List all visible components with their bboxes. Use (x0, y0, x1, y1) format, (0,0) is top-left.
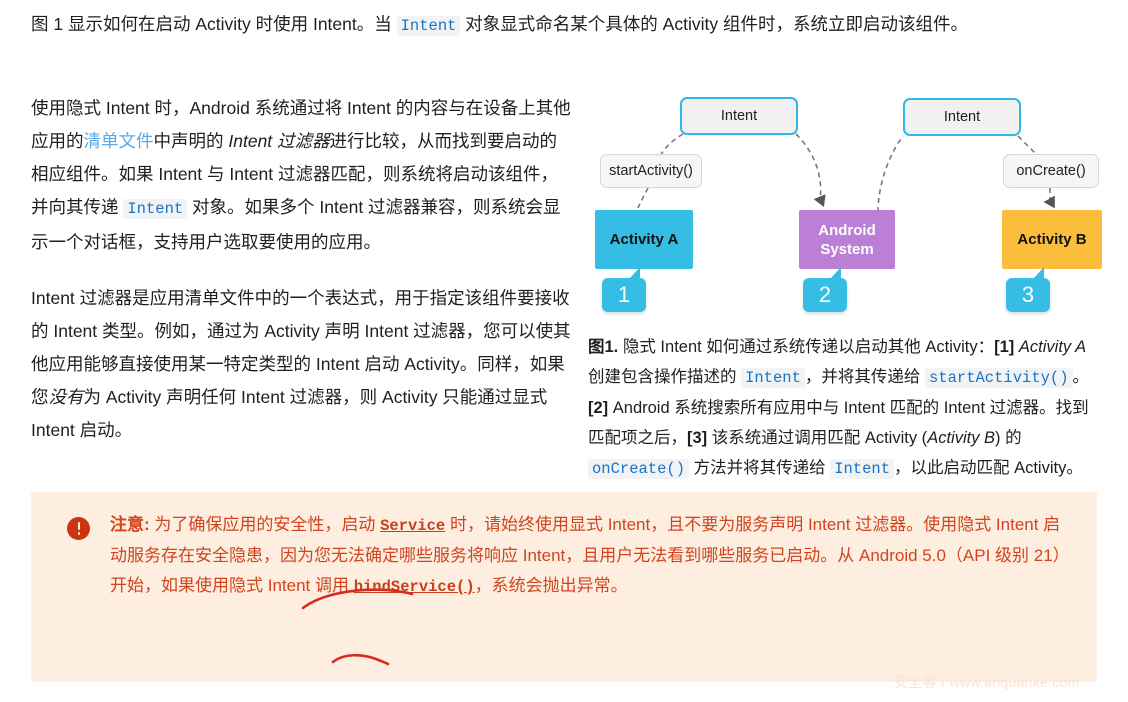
caption-s1: 隐式 Intent 如何通过系统传递以启动其他 Activity： (618, 338, 994, 356)
caption-code-intent-2: Intent (830, 459, 894, 479)
caption-step-3: [3] (687, 429, 707, 447)
p2-emphasis-none: 没有 (49, 387, 84, 407)
watermark: 安全客 / www.anquanke.com (894, 672, 1080, 692)
caption-step-1: [1] (994, 338, 1014, 356)
diagram-android-system-label-line1: Android (818, 221, 876, 240)
callout-tail-3 (1027, 267, 1044, 278)
figure-caption: 图1. 隐式 Intent 如何通过系统传递以启动其他 Activity：[1]… (588, 332, 1100, 484)
p1-emphasis-intent-filter: Intent 过滤器 (228, 131, 329, 151)
manifest-file-link[interactable]: 清单文件 (84, 131, 154, 151)
diagram-activity-a-label: Activity A (610, 230, 679, 249)
diagram-callout-1-label: 1 (618, 282, 630, 308)
document-page: 图 1 显示如何在启动 Activity 时使用 Intent。当 Intent… (0, 0, 1128, 702)
caption-code-on-create: onCreate() (588, 459, 689, 479)
note-inner: 注意: 为了确保应用的安全性，启动 Service 时，请始终使用显式 Inte… (67, 510, 1077, 602)
intro-text-part1: 图 1 显示如何在启动 Activity 时使用 Intent。当 (31, 14, 397, 34)
diagram-callout-1: 1 (602, 278, 646, 312)
caption-em-activity-a: Activity A (1019, 338, 1086, 356)
p2-s2: 为 Activity 声明任何 Intent 过滤器，则 Activity 只能… (31, 387, 547, 440)
diagram-node-activity-a: Activity A (595, 210, 693, 269)
left-column: 使用隐式 Intent 时，Android 系统通过将 Intent 的内容与在… (31, 92, 571, 470)
intro-text-part2: 对象显式命名某个具体的 Activity 组件时，系统立即启动该组件。 (460, 14, 968, 34)
diagram-node-android-system: Android System (799, 210, 895, 269)
diagram-callout-2-label: 2 (819, 282, 831, 308)
diagram-intent-right-label: Intent (944, 109, 980, 125)
note-code-bindservice: bindService() (354, 578, 475, 596)
diagram-activity-b-label: Activity B (1017, 230, 1086, 249)
diagram-callout-3-label: 3 (1022, 282, 1034, 308)
intent-flow-diagram: Intent Intent startActivity() onCreate()… (588, 84, 1108, 324)
note-label: 注意: (110, 515, 150, 534)
diagram-intent-left-label: Intent (721, 108, 757, 124)
diagram-on-create-box: onCreate() (1003, 154, 1099, 188)
note-t1: 为了确保应用的安全性，启动 (150, 515, 380, 534)
p1-s2: 中声明的 (154, 131, 229, 151)
diagram-intent-box-right: Intent (903, 98, 1021, 136)
diagram-node-activity-b: Activity B (1002, 210, 1102, 269)
note-code-service: Service (380, 517, 445, 535)
callout-tail-1 (623, 267, 640, 278)
caption-s4: 。 (1073, 368, 1090, 386)
paragraph-intent-filter: Intent 过滤器是应用清单文件中的一个表达式，用于指定该组件要接收的 Int… (31, 282, 571, 447)
diagram-start-activity-label: startActivity() (609, 163, 693, 179)
caption-fig-word: 图 (588, 338, 605, 356)
intro-paragraph: 图 1 显示如何在启动 Activity 时使用 Intent。当 Intent… (31, 8, 1097, 43)
caption-step-2: [2] (588, 399, 608, 417)
note-t3: ，系统会抛出异常。 (475, 576, 628, 595)
code-chip-intent-2: Intent (123, 199, 187, 219)
caption-s9: ，以此启动匹配 Activity。 (894, 459, 1083, 477)
diagram-on-create-label: onCreate() (1016, 163, 1085, 179)
caption-code-start-activity: startActivity() (925, 368, 1073, 388)
diagram-intent-box-left: Intent (680, 97, 798, 135)
caption-s7: ) 的 (995, 429, 1022, 447)
exclamation-circle-icon (67, 517, 90, 540)
caption-s2: 创建包含操作描述的 (588, 368, 741, 386)
caution-note-box: 注意: 为了确保应用的安全性，启动 Service 时，请始终使用显式 Inte… (31, 492, 1097, 682)
diagram-start-activity-box: startActivity() (600, 154, 702, 188)
caption-s6: 该系统通过调用匹配 Activity ( (707, 429, 927, 447)
caption-em-activity-b: Activity B (927, 429, 995, 447)
callout-tail-2 (824, 267, 841, 278)
caption-s8: 方法并将其传递给 (689, 459, 830, 477)
caption-code-intent: Intent (741, 368, 805, 388)
diagram-callout-2: 2 (803, 278, 847, 312)
note-text: 注意: 为了确保应用的安全性，启动 Service 时，请始终使用显式 Inte… (110, 510, 1077, 602)
caption-fig-num: 1. (605, 338, 619, 356)
code-chip-intent: Intent (397, 16, 461, 36)
diagram-callout-3: 3 (1006, 278, 1050, 312)
diagram-android-system-label-line2: System (820, 240, 873, 259)
caption-s3: ，并将其传递给 (805, 368, 925, 386)
paragraph-implicit-intent: 使用隐式 Intent 时，Android 系统通过将 Intent 的内容与在… (31, 92, 571, 259)
